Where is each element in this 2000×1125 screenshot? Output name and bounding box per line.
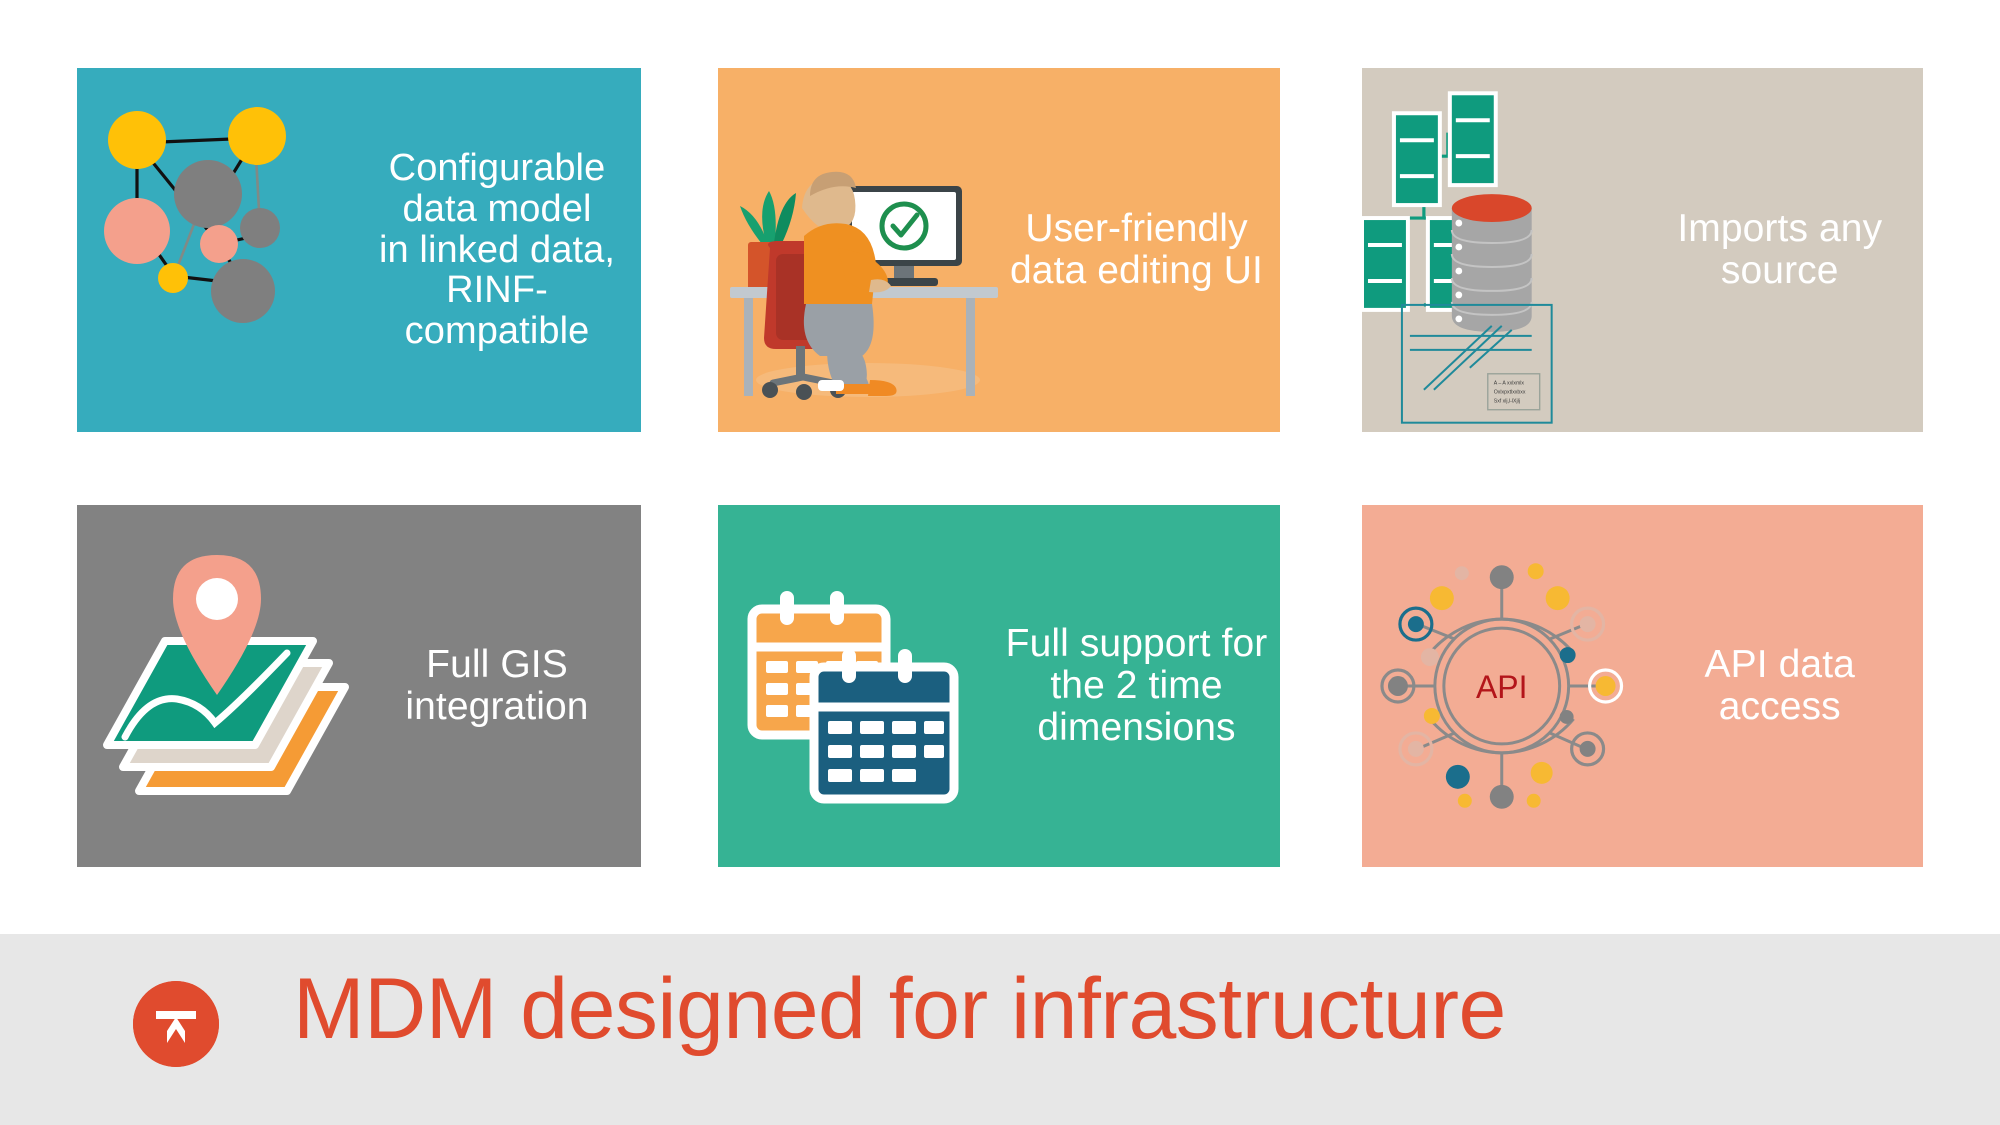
card-caption: Imports any source bbox=[1643, 208, 1924, 291]
two-calendars-icon bbox=[718, 505, 999, 867]
brand-logo-icon bbox=[133, 981, 219, 1067]
api-label: API bbox=[1476, 669, 1527, 705]
svg-text:Oxlxpxtlxxbxx: Oxlxpxtlxxbxx bbox=[1494, 390, 1526, 396]
micro-label-text: A – A xxlxmlx Oxlxpxtlxxbxx Sxf xlj,l-lX… bbox=[1494, 381, 1526, 405]
servers-database-icon: A – A xxlxmlx Oxlxpxtlxxbxx Sxf xlj,l-lX… bbox=[1362, 68, 1643, 432]
person-at-desk-icon bbox=[718, 68, 999, 432]
card-api-data-access: API API data access bbox=[1362, 505, 1923, 867]
card-caption: Configurable data model in linked data, … bbox=[359, 148, 641, 351]
card-configurable-data-model: Configurable data model in linked data, … bbox=[77, 68, 641, 432]
api-hub-network-icon: API bbox=[1362, 505, 1643, 867]
slide-canvas: Configurable data model in linked data, … bbox=[0, 0, 2000, 1125]
card-caption: Full support for the 2 time dimensions bbox=[999, 623, 1280, 748]
card-imports-any-source: A – A xxlxmlx Oxlxpxtlxxbxx Sxf xlj,l-lX… bbox=[1362, 68, 1923, 432]
page-title: MDM designed for infrastructure bbox=[293, 966, 1506, 1052]
svg-text:A – A xxlxmlx: A – A xxlxmlx bbox=[1494, 381, 1525, 387]
card-two-time-dimensions: Full support for the 2 time dimensions bbox=[718, 505, 1280, 867]
card-caption: User-friendly data editing UI bbox=[999, 208, 1280, 291]
card-user-friendly-editing-ui: User-friendly data editing UI bbox=[718, 68, 1280, 432]
card-caption: API data access bbox=[1643, 644, 1924, 727]
svg-text:Sxf xlj,l-lXjlj: Sxf xlj,l-lXjlj bbox=[1494, 399, 1520, 405]
card-full-gis-integration: Full GIS integration bbox=[77, 505, 641, 867]
map-layers-pin-icon bbox=[77, 505, 359, 867]
card-caption: Full GIS integration bbox=[359, 644, 641, 727]
linked-data-graph-icon bbox=[77, 68, 359, 432]
